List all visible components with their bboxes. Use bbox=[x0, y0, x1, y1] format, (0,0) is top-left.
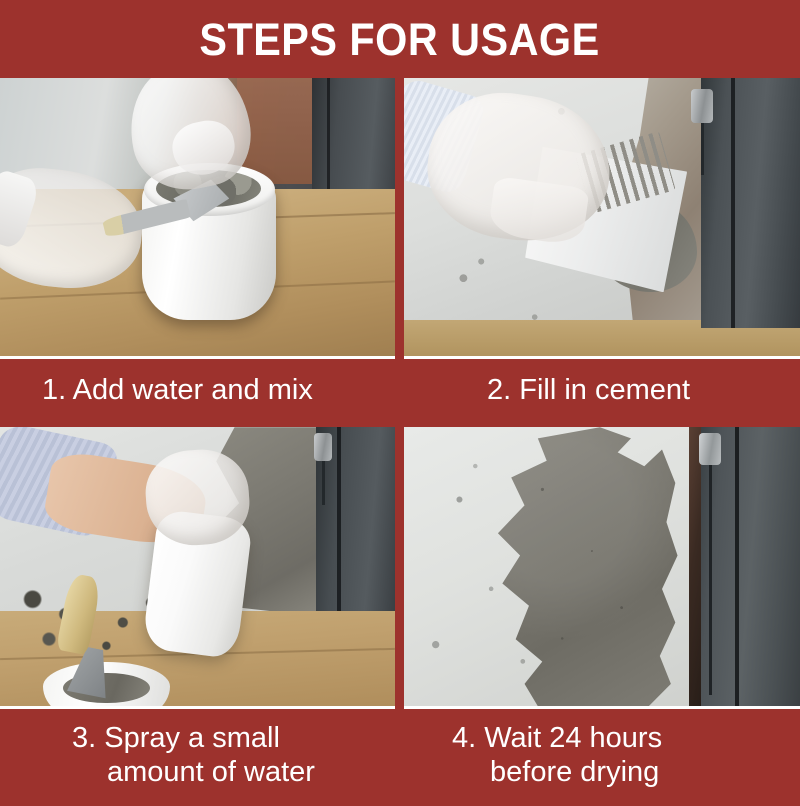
step-photo-4 bbox=[404, 427, 800, 709]
steps-for-usage-infographic: STEPS FOR USAGE 1. Add water and mix bbox=[0, 0, 800, 800]
door-frame bbox=[701, 427, 800, 706]
caption-line: amount of water bbox=[72, 755, 395, 789]
step-caption-3: 3. Spray a small amount of water bbox=[0, 709, 395, 805]
door-frame bbox=[312, 78, 395, 206]
step-card-1: 1. Add water and mix bbox=[0, 78, 395, 423]
step-card-4: 4. Wait 24 hours before drying bbox=[404, 427, 800, 805]
page-title: STEPS FOR USAGE bbox=[200, 17, 600, 62]
caption-line: 1. Add water and mix bbox=[42, 373, 395, 407]
column-gutter bbox=[395, 78, 404, 423]
step-caption-1: 1. Add water and mix bbox=[0, 359, 395, 423]
door-frame bbox=[701, 78, 800, 328]
step-caption-4: 4. Wait 24 hours before drying bbox=[404, 709, 800, 805]
metal-bolt bbox=[691, 89, 713, 123]
step-card-2: 2. Fill in cement bbox=[404, 78, 800, 423]
steps-grid: 1. Add water and mix 2. Fill in ce bbox=[0, 78, 800, 806]
column-gutter bbox=[395, 427, 404, 805]
caption-line: 3. Spray a small bbox=[72, 721, 395, 755]
caption-line: 2. Fill in cement bbox=[487, 373, 800, 407]
metal-bolt bbox=[314, 433, 332, 461]
step-card-3: 3. Spray a small amount of water bbox=[0, 427, 395, 805]
metal-bolt bbox=[699, 433, 721, 465]
step-photo-3 bbox=[0, 427, 395, 709]
step-caption-2: 2. Fill in cement bbox=[404, 359, 800, 423]
caption-line: before drying bbox=[452, 755, 800, 789]
caption-line: 4. Wait 24 hours bbox=[452, 721, 800, 755]
step-photo-2 bbox=[404, 78, 800, 359]
step-photo-1 bbox=[0, 78, 395, 359]
title-bar: STEPS FOR USAGE bbox=[0, 0, 800, 78]
